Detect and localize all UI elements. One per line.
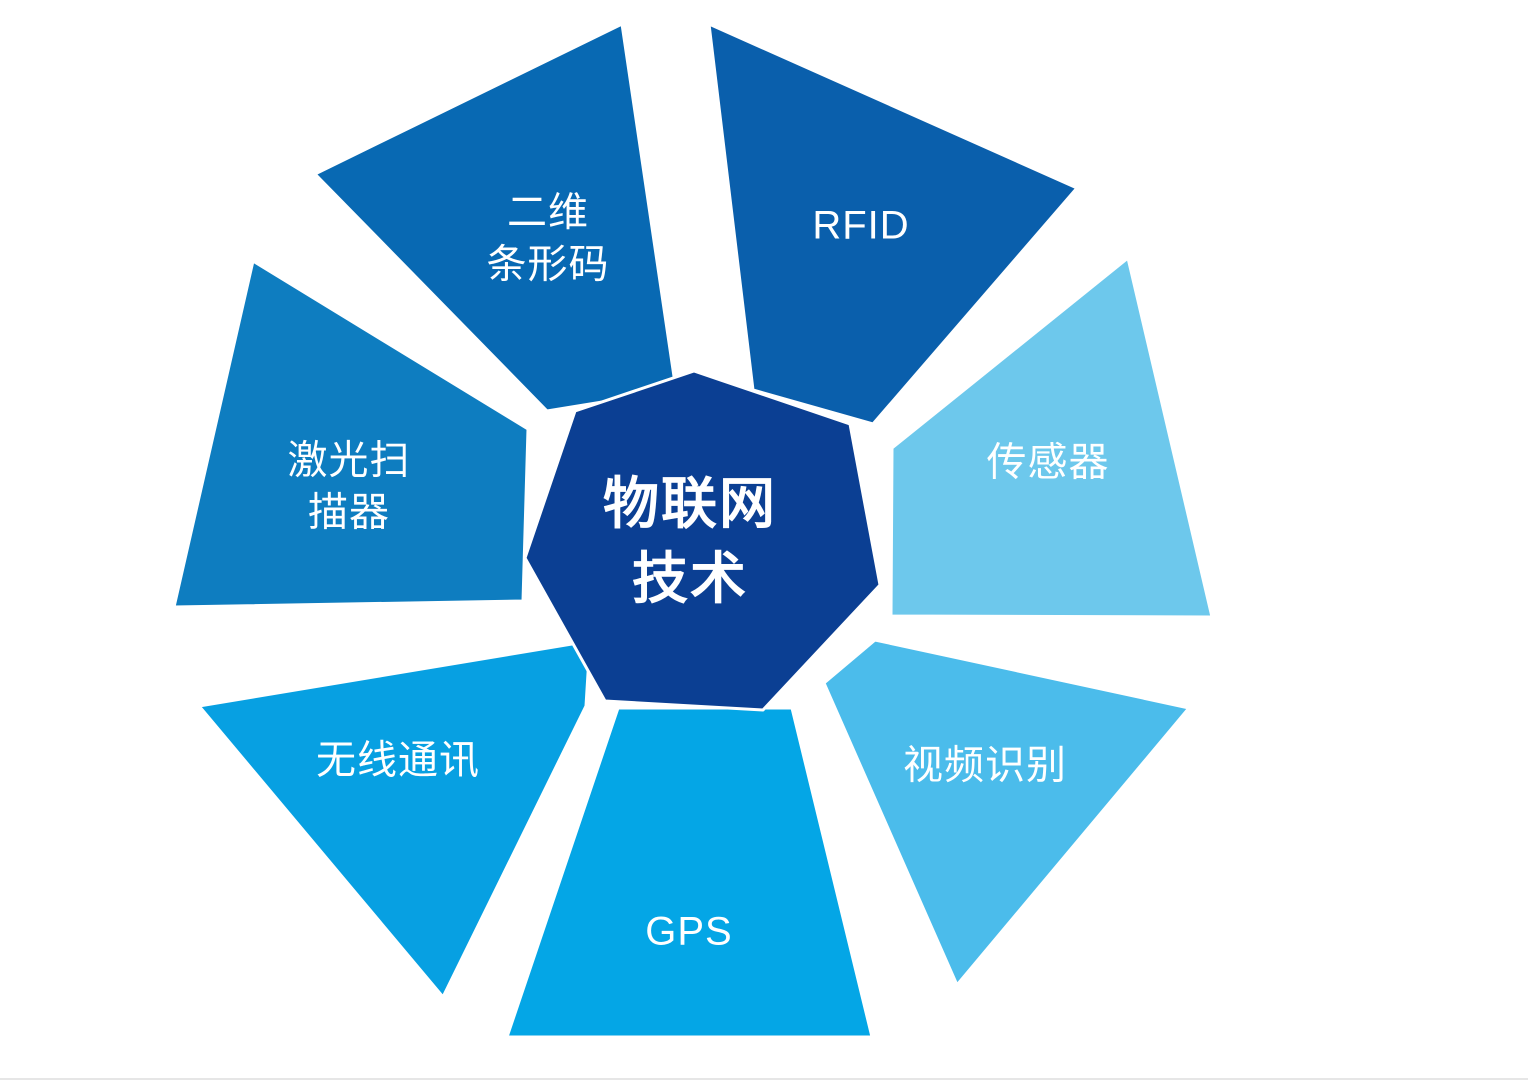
petal-wireless-communication[interactable]: 无线通讯: [199, 641, 590, 997]
petal-video-recognition-shape[interactable]: [824, 640, 1189, 985]
petal-wireless-communication-shape[interactable]: [199, 641, 590, 997]
radial-diagram-canvas: 二维 条形码 RFID 传感器 视频识别 GPS 无线通讯: [0, 0, 1528, 1080]
iot-technology-wheel-diagram: 二维 条形码 RFID 传感器 视频识别 GPS 无线通讯: [0, 0, 1528, 1080]
petal-video-recognition[interactable]: 视频识别: [824, 640, 1189, 985]
